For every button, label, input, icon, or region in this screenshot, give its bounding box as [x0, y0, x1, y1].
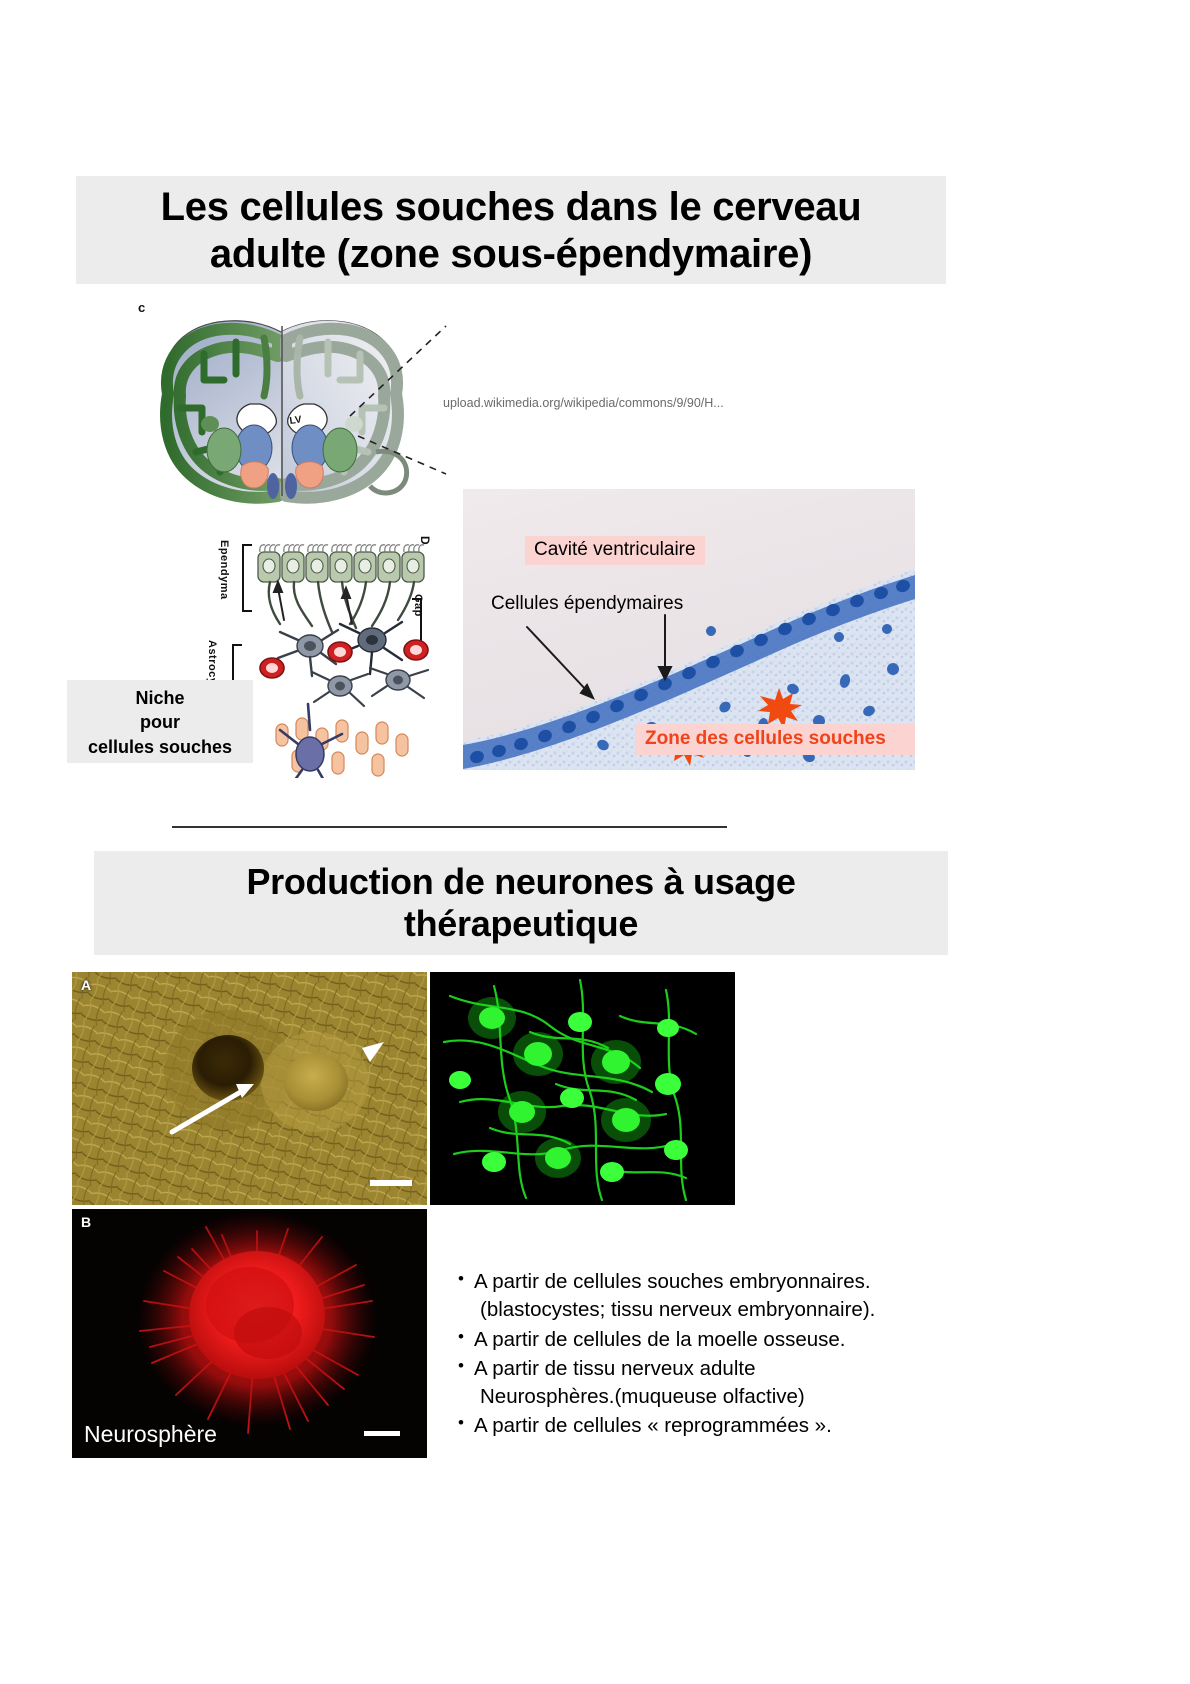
slide2-title-line1: Production de neurones à usage — [94, 861, 948, 903]
list-item: A partir de tissu nerveux adulte Neurosp… — [458, 1355, 928, 1412]
label-cellules-ependymaires: Cellules épendymaires — [491, 593, 683, 615]
slide1-title: Les cellules souches dans le cerveau adu… — [76, 176, 946, 284]
therapeutic-sources-list: A partir de cellules souches embryonnair… — [458, 1268, 928, 1442]
brain-panel-letter: c — [138, 300, 145, 315]
photo-a-letter: A — [81, 977, 91, 993]
slide1-title-line2: adulte (zone sous-épendymaire) — [76, 231, 946, 278]
photo-panel-green-neurons — [430, 972, 735, 1205]
neurosphere-caption: Neurosphère — [84, 1421, 217, 1448]
list-item: A partir de cellules « reprogrammées ». — [458, 1412, 928, 1440]
source-url-caption: upload.wikimedia.org/wikipedia/commons/9… — [443, 396, 724, 410]
photo-panel-b-neurosphere: B Neurosphère — [72, 1209, 427, 1458]
label-cavite-ventriculaire: Cavité ventriculaire — [525, 536, 705, 565]
niche-line-1: Niche — [67, 686, 253, 710]
photo-b-letter: B — [81, 1214, 91, 1230]
niche-line-3: cellules souches — [67, 735, 253, 759]
svg-text:LV: LV — [289, 414, 303, 427]
brain-coronal-svg: LV — [118, 296, 448, 506]
bullet-main-text: A partir de cellules souches embryonnair… — [474, 1270, 871, 1293]
list-item: A partir de cellules de la moelle osseus… — [458, 1326, 928, 1354]
bullet-main-text: A partir de cellules de la moelle osseus… — [474, 1328, 845, 1351]
niche-callout-box: Niche pour cellules souches — [67, 680, 253, 763]
brain-coronal-diagram: c — [118, 296, 448, 506]
photo-panel-a-neurospheres: A — [72, 972, 427, 1205]
slide2-title: Production de neurones à usage thérapeut… — [94, 851, 948, 955]
section-divider — [172, 826, 727, 828]
slide2-title-line2: thérapeutique — [94, 903, 948, 945]
slide1-title-line1: Les cellules souches dans le cerveau — [76, 184, 946, 231]
bullet-sub-text: Neurosphères.(muqueuse olfactive) — [474, 1383, 928, 1411]
niche-line-2: pour — [67, 710, 253, 734]
bullet-sub-text: (blastocystes; tissu nerveux embryonnair… — [474, 1296, 928, 1324]
photo-green-svg — [430, 972, 735, 1205]
list-item: A partir de cellules souches embryonnair… — [458, 1268, 928, 1325]
bullet-list: A partir de cellules souches embryonnair… — [458, 1268, 928, 1441]
label-zone-cellules-souches: Zone des cellules souches — [635, 724, 915, 755]
photo-a-svg — [72, 972, 427, 1205]
histology-photo: Cavité ventriculaire Cellules épendymair… — [463, 489, 915, 770]
bullet-main-text: A partir de tissu nerveux adulte — [474, 1357, 755, 1380]
bullet-main-text: A partir de cellules « reprogrammées ». — [474, 1414, 832, 1437]
